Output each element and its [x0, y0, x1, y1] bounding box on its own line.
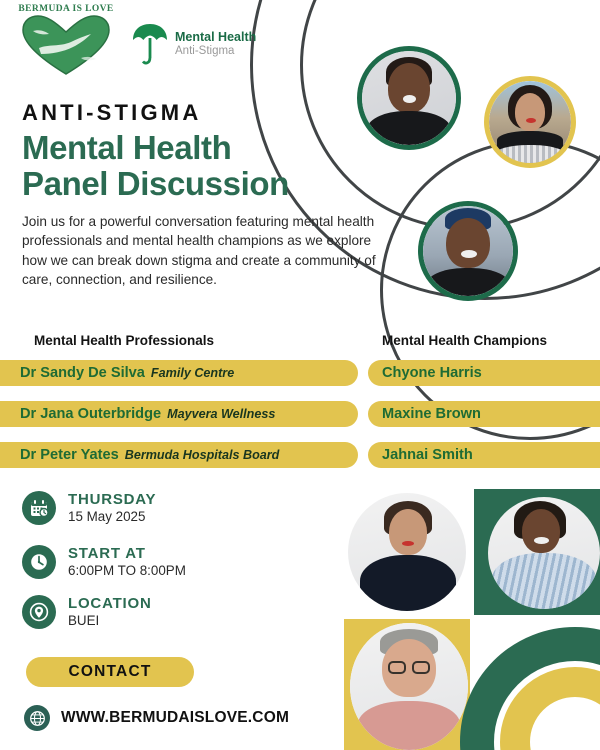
detail-location: LOCATION BUEI	[22, 595, 152, 629]
clock-icon	[22, 545, 56, 579]
professional-name: Dr Sandy De Silva	[20, 365, 145, 381]
mental-health-logo-line2: Anti-Stigma	[175, 45, 256, 57]
location-pin-icon	[22, 595, 56, 629]
professional-row-2: Dr Jana Outerbridge Mayvera Wellness	[0, 401, 358, 427]
champion-row-2: Maxine Brown	[368, 401, 600, 427]
logo-row: BERMUDA IS LOVE Mental Health Anti-Stigm…	[16, 4, 256, 81]
detail-label: START AT	[68, 545, 186, 563]
mental-health-logo-line1: Mental Health	[175, 31, 256, 44]
detail-time: START AT 6:00PM TO 8:00PM	[22, 545, 186, 579]
champion-name: Chyone Harris	[382, 365, 482, 381]
detail-value: BUEI	[68, 613, 152, 629]
umbrella-icon	[130, 22, 170, 66]
champion-row-1: Chyone Harris	[368, 360, 600, 386]
heart-island-icon	[19, 14, 113, 76]
champions-heading: Mental Health Champions	[382, 333, 547, 348]
panelist-photo-4	[344, 489, 470, 615]
champion-name: Maxine Brown	[382, 406, 481, 422]
professional-name: Dr Peter Yates	[20, 447, 119, 463]
poster-canvas: BERMUDA IS LOVE Mental Health Anti-Stigm…	[0, 0, 600, 750]
panelist-photo-6	[344, 619, 470, 750]
panelist-photo-3	[418, 201, 518, 301]
professional-row-1: Dr Sandy De Silva Family Centre	[0, 360, 358, 386]
panelist-photo-5	[474, 489, 600, 615]
panelist-photo-1	[357, 46, 461, 150]
professional-org: Bermuda Hospitals Board	[125, 448, 280, 462]
detail-label: LOCATION	[68, 595, 152, 613]
contact-button[interactable]: CONTACT	[26, 657, 194, 687]
professional-row-3: Dr Peter Yates Bermuda Hospitals Board	[0, 442, 358, 468]
bermuda-is-love-logo: BERMUDA IS LOVE	[16, 4, 116, 81]
bottom-photo-grid	[344, 489, 600, 750]
page-title: Mental Health Panel Discussion	[22, 130, 289, 201]
intro-paragraph: Join us for a powerful conversation feat…	[22, 212, 382, 289]
title-line-1: Mental Health	[22, 130, 289, 166]
calendar-icon	[22, 491, 56, 525]
mental-health-anti-stigma-logo: Mental Health Anti-Stigma	[130, 4, 256, 66]
kicker-text: ANTI-STIGMA	[22, 100, 201, 126]
professional-org: Family Centre	[151, 366, 234, 380]
champion-row-3: Jahnai Smith	[368, 442, 600, 468]
website-url: WWW.BERMUDAISLOVE.COM	[61, 709, 289, 727]
professional-name: Dr Jana Outerbridge	[20, 406, 161, 422]
bermuda-is-love-wordmark: BERMUDA IS LOVE	[16, 4, 116, 14]
detail-label: THURSDAY	[68, 491, 156, 509]
champion-name: Jahnai Smith	[382, 447, 473, 463]
professionals-heading: Mental Health Professionals	[34, 333, 214, 348]
detail-date: THURSDAY 15 May 2025	[22, 491, 156, 525]
detail-value: 6:00PM TO 8:00PM	[68, 563, 186, 579]
globe-icon	[24, 705, 50, 731]
website-row[interactable]: WWW.BERMUDAISLOVE.COM	[24, 705, 289, 731]
professional-org: Mayvera Wellness	[167, 407, 275, 421]
panelist-photo-2	[484, 76, 576, 168]
detail-value: 15 May 2025	[68, 509, 156, 525]
title-line-2: Panel Discussion	[22, 166, 289, 202]
